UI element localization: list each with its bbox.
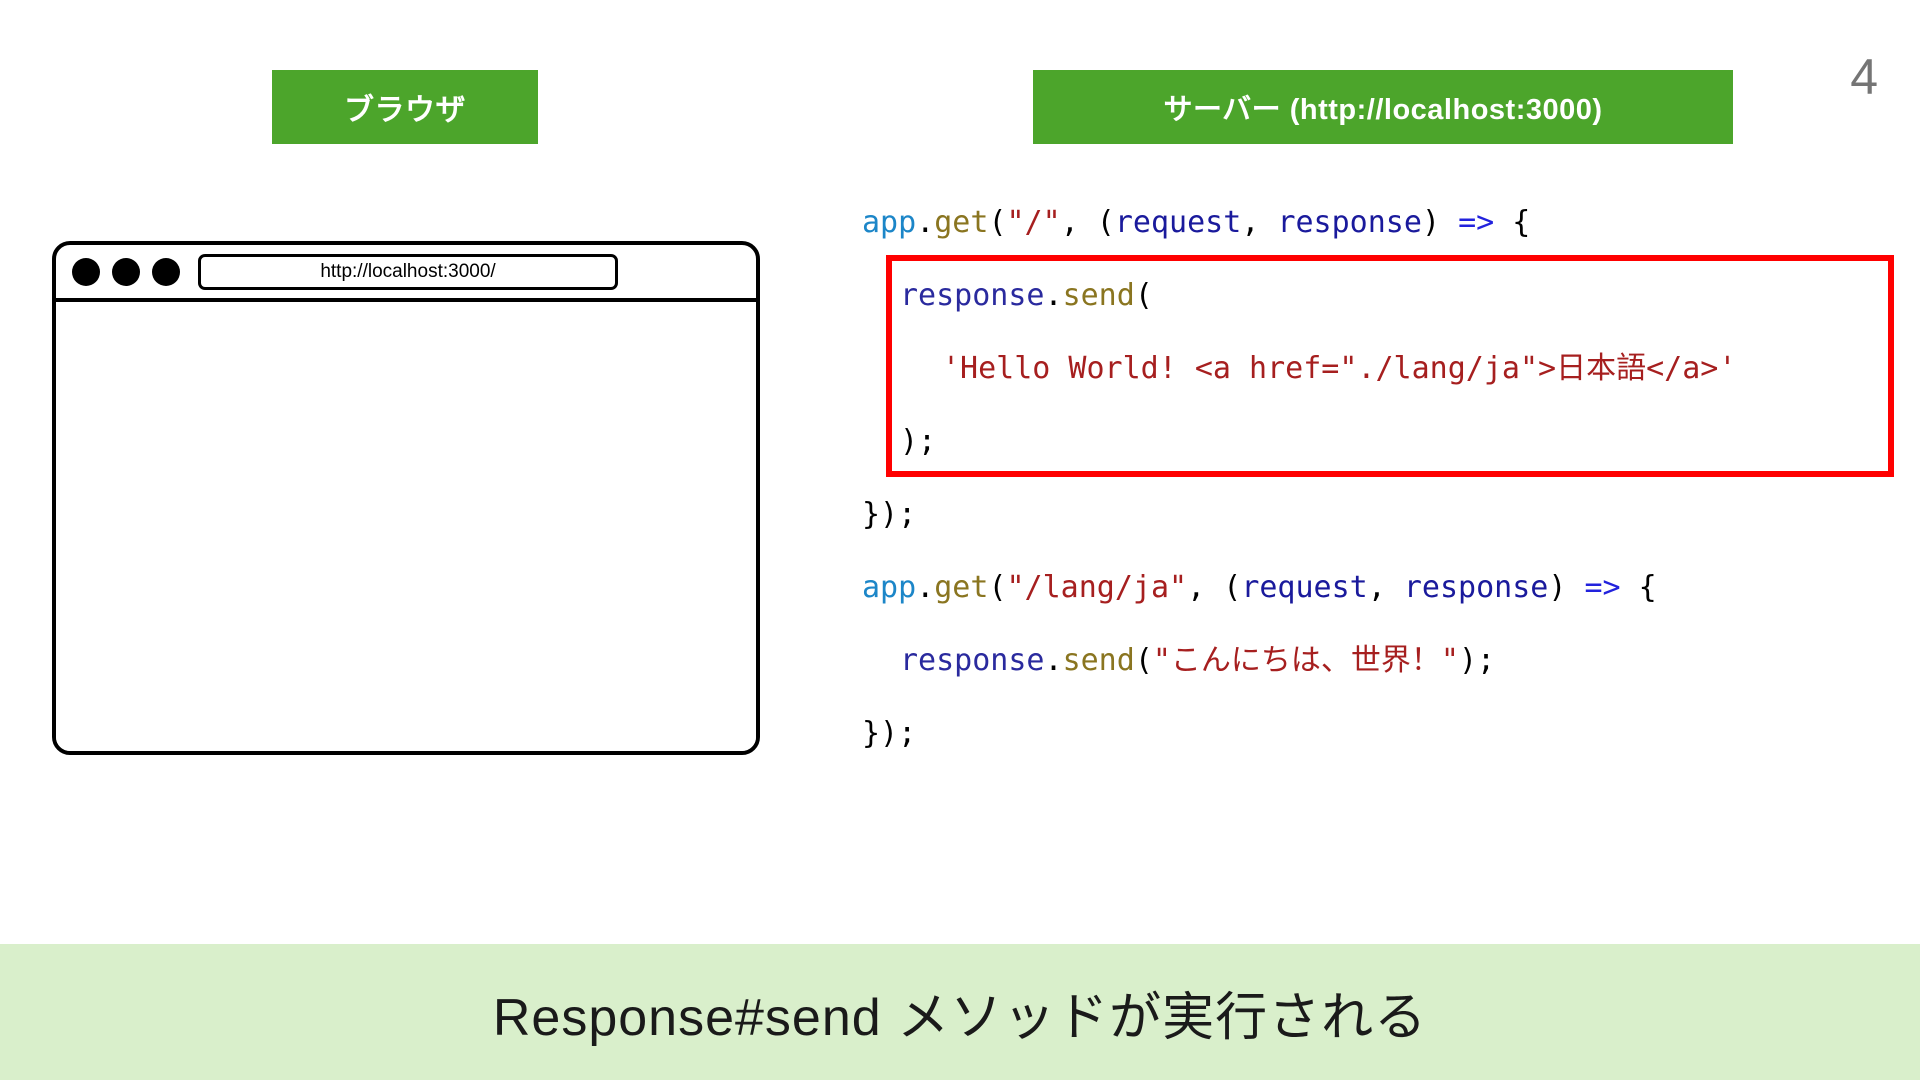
browser-viewport <box>56 302 756 751</box>
caption-bar: Response#send メソッドが実行される <box>0 944 1920 1080</box>
code-token: request <box>1115 205 1241 240</box>
code-token: , <box>1241 205 1277 240</box>
code-token: send <box>1063 278 1135 313</box>
code-token: => <box>1458 205 1494 240</box>
column-header-browser-label: ブラウザ <box>344 85 466 129</box>
code-line: 'Hello World! <a href="./lang/ja">日本語</a… <box>862 332 1902 405</box>
window-controls <box>72 258 180 286</box>
code-token: response <box>1277 205 1422 240</box>
code-token: . <box>916 205 934 240</box>
code-token: ); <box>1459 643 1495 678</box>
column-header-server: サーバー (http://localhost:3000) <box>1033 70 1733 144</box>
code-token: response <box>1404 570 1549 605</box>
code-token: . <box>1045 643 1063 678</box>
code-token: ); <box>900 424 936 459</box>
code-line: app.get("/", (request, response) => { <box>862 186 1902 259</box>
column-header-server-label: サーバー (http://localhost:3000) <box>1163 86 1602 128</box>
code-token: request <box>1241 570 1367 605</box>
code-token: "/" <box>1007 205 1061 240</box>
code-token: ( <box>1135 643 1153 678</box>
code-token: }); <box>862 497 916 532</box>
code-token: ) <box>1548 570 1584 605</box>
server-code-block: app.get("/", (request, response) => {res… <box>862 186 1902 770</box>
code-token: response <box>900 278 1045 313</box>
code-line: app.get("/lang/ja", (request, response) … <box>862 551 1902 624</box>
code-token: , <box>1368 570 1404 605</box>
code-line: ); <box>862 405 1902 478</box>
code-line: }); <box>862 478 1902 551</box>
code-token: => <box>1585 570 1621 605</box>
code-line: }); <box>862 697 1902 770</box>
code-token: app <box>862 205 916 240</box>
minimize-dot-icon[interactable] <box>112 258 140 286</box>
code-token: get <box>934 570 988 605</box>
code-token: ) <box>1422 205 1458 240</box>
caption-text: Response#send メソッドが実行される <box>493 975 1427 1050</box>
code-token: . <box>1045 278 1063 313</box>
browser-address-bar[interactable]: http://localhost:3000/ <box>198 254 618 290</box>
browser-chrome-bar: http://localhost:3000/ <box>56 245 756 302</box>
code-token: { <box>1621 570 1657 605</box>
close-dot-icon[interactable] <box>72 258 100 286</box>
maximize-dot-icon[interactable] <box>152 258 180 286</box>
code-token: , ( <box>1187 570 1241 605</box>
code-token: . <box>916 570 934 605</box>
page-number: 4 <box>1850 52 1878 102</box>
code-token: , ( <box>1061 205 1115 240</box>
code-token: app <box>862 570 916 605</box>
code-line: response.send( <box>862 259 1902 332</box>
code-line: response.send("こんにちは、世界！"); <box>862 624 1902 697</box>
browser-address-bar-value: http://localhost:3000/ <box>320 261 495 283</box>
code-token: response <box>900 643 1045 678</box>
code-token: send <box>1063 643 1135 678</box>
code-token: "/lang/ja" <box>1007 570 1188 605</box>
column-header-browser: ブラウザ <box>272 70 538 144</box>
code-token: ( <box>1135 278 1153 313</box>
code-token: ( <box>988 205 1006 240</box>
code-token: 'Hello World! <a href="./lang/ja">日本語</a… <box>942 351 1736 386</box>
code-token: "こんにちは、世界！" <box>1153 643 1459 678</box>
code-token: get <box>934 205 988 240</box>
code-token: }); <box>862 716 916 751</box>
code-token: ( <box>988 570 1006 605</box>
code-token: { <box>1494 205 1530 240</box>
browser-window-mockup: http://localhost:3000/ <box>52 241 760 755</box>
